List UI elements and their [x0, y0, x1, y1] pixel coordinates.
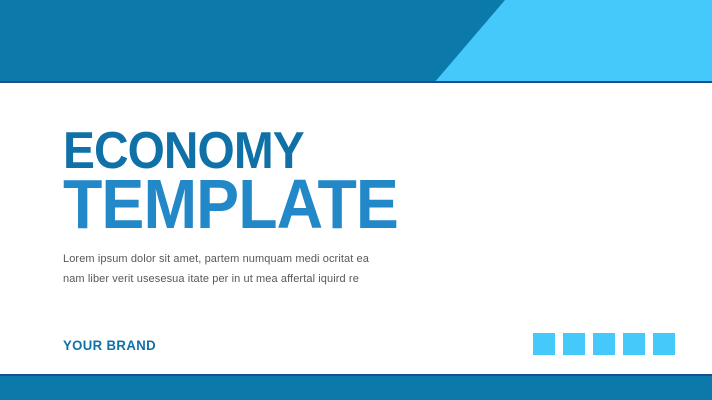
body-paragraph-line: nam liber verit usesesua itate per in ut…: [63, 273, 423, 285]
body-paragraph-line: Lorem ipsum dolor sit amet, partem numqu…: [63, 253, 423, 265]
decorative-square: [533, 333, 555, 355]
decorative-square: [593, 333, 615, 355]
body-paragraph: Lorem ipsum dolor sit amet, partem numqu…: [63, 253, 423, 285]
brand-label: YOUR BRAND: [63, 337, 156, 353]
decorative-square: [653, 333, 675, 355]
title-block: ECONOMY TEMPLATE: [63, 128, 427, 236]
footer-divider-rule: [0, 374, 712, 376]
presentation-slide: ECONOMY TEMPLATE Lorem ipsum dolor sit a…: [0, 0, 712, 400]
decorative-square: [623, 333, 645, 355]
footer-band: [0, 374, 712, 400]
header-band: [0, 0, 712, 83]
header-divider-rule: [0, 81, 712, 83]
slide-title-secondary: TEMPLATE: [63, 172, 398, 236]
decorative-square: [563, 333, 585, 355]
decorative-square-row: [533, 333, 675, 355]
